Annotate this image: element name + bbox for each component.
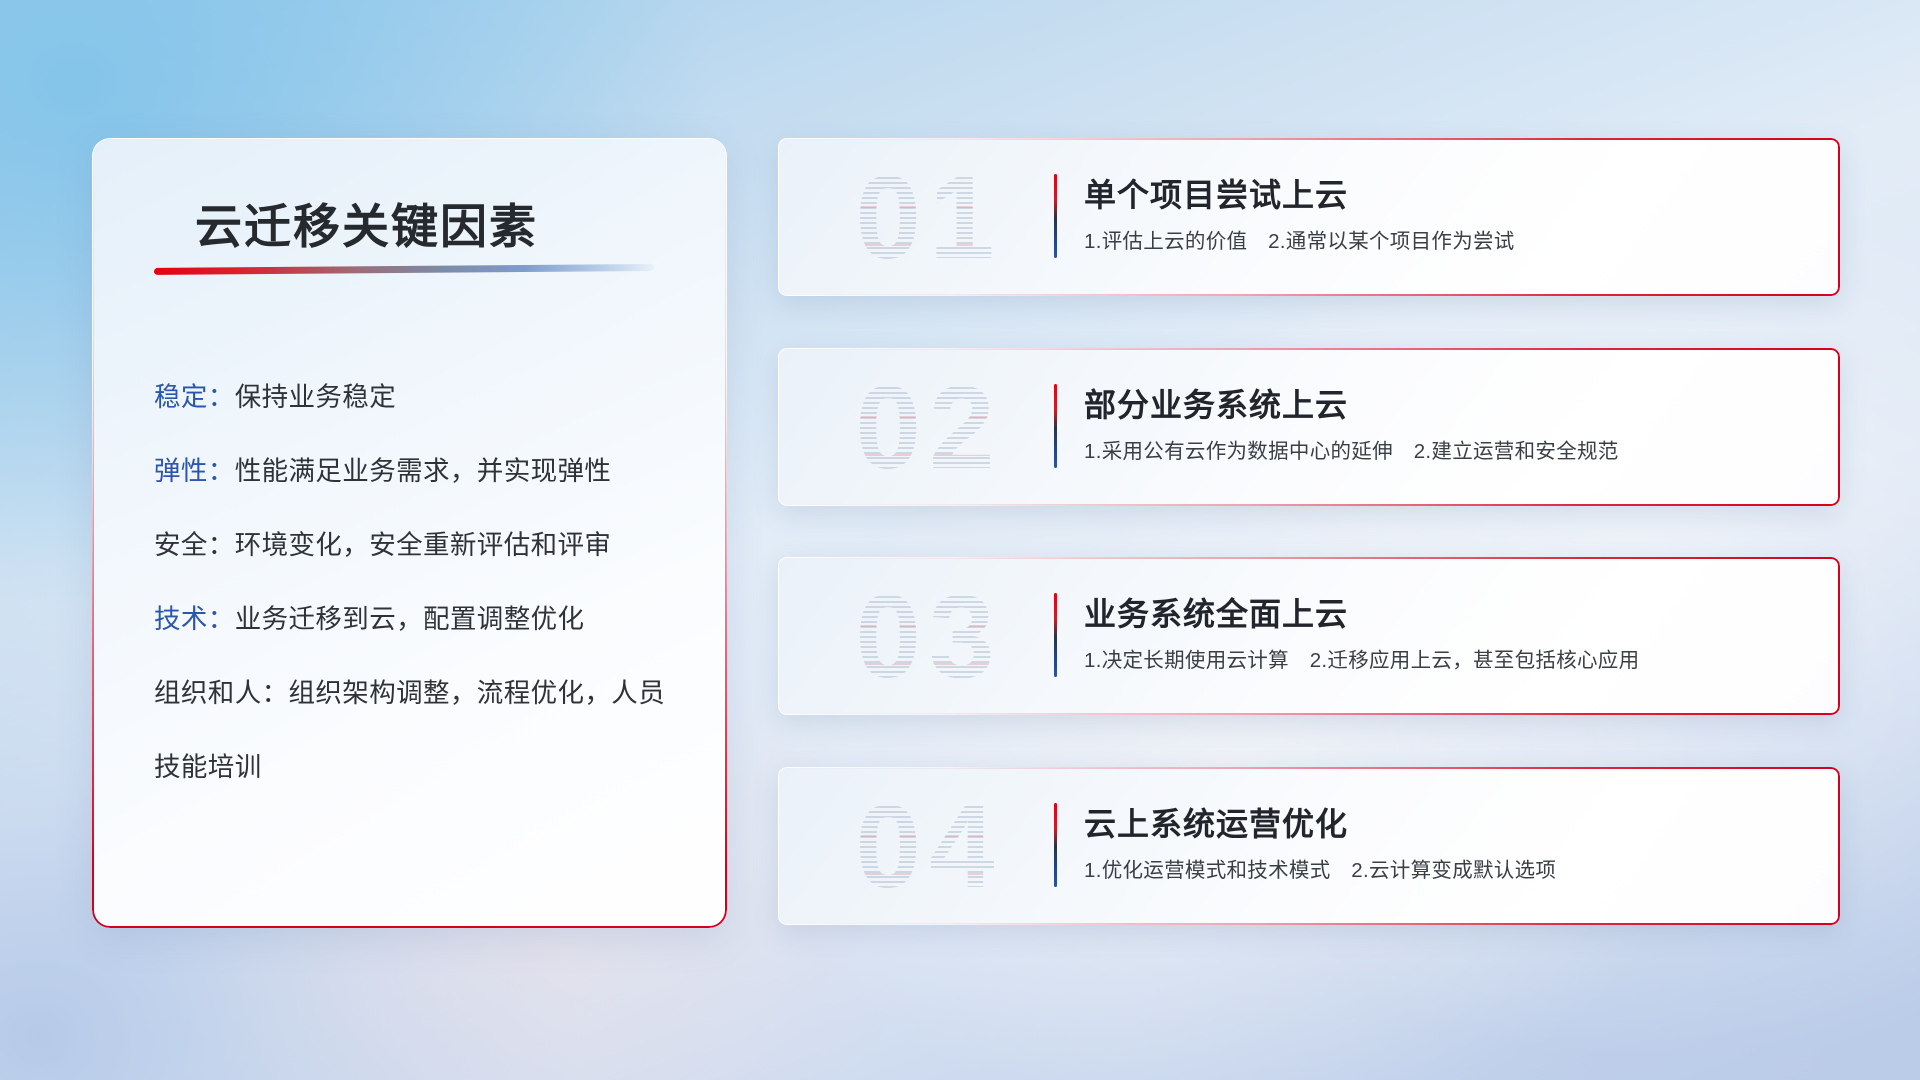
card-red-border <box>778 348 1840 506</box>
card-description: 1.评估上云的价值 2.通常以某个项目作为尝试 <box>1084 224 1515 254</box>
card-red-border <box>778 767 1840 925</box>
card-title: 单个项目尝试上云 <box>1084 170 1348 216</box>
card-divider-bar <box>1054 384 1057 468</box>
stage-card[interactable]: 02 02 部分业务系统上云 1.采用公有云作为数据中心的延伸 2.建立运营和安… <box>778 348 1840 506</box>
list-item-label: 弹性： <box>154 456 235 486</box>
card-white-border <box>778 348 1840 506</box>
page-title: 云迁移关键因素 <box>195 188 538 257</box>
list-item-label: 稳定： <box>154 382 235 412</box>
card-number-accent-glyph: 04 <box>814 781 1044 913</box>
card-divider-bar <box>1054 593 1057 677</box>
key-factors-list: 稳定：保持业务稳定 弹性：性能满足业务需求，并实现弹性 安全：环境变化，安全重新… <box>154 360 674 804</box>
list-item: 稳定：保持业务稳定 <box>154 360 674 434</box>
list-item-label: 组织和人： <box>154 678 289 708</box>
card-red-border <box>778 557 1840 715</box>
card-number-accent-glyph: 03 <box>814 571 1044 703</box>
card-red-border <box>778 138 1840 296</box>
card-number-glyph: 01 <box>814 152 1044 284</box>
list-item-text: 环境变化，安全重新评估和评审 <box>235 530 612 560</box>
card-number-accent-glyph: 01 <box>814 152 1044 284</box>
card-description: 1.采用公有云作为数据中心的延伸 2.建立运营和安全规范 <box>1084 434 1619 464</box>
list-item: 安全：环境变化，安全重新评估和评审 <box>154 508 674 582</box>
key-factors-panel: 云迁移关键因素 稳定：保持业务稳定 弹性：性能满足业务需求，并实现弹性 安全：环… <box>92 138 727 928</box>
list-item-text: 性能满足业务需求，并实现弹性 <box>235 456 612 486</box>
list-item-label: 技术： <box>154 604 235 634</box>
list-item-label: 安全： <box>154 530 235 560</box>
list-item-text: 业务迁移到云，配置调整优化 <box>235 604 585 634</box>
stage-card[interactable]: 04 04 云上系统运营优化 1.优化运营模式和技术模式 2.云计算变成默认选项 <box>778 767 1840 925</box>
card-number-accent-glyph: 02 <box>814 362 1044 494</box>
card-divider-bar <box>1054 174 1057 258</box>
card-number-glyph: 04 <box>814 781 1044 913</box>
title-underline-gradient <box>154 264 654 275</box>
list-item: 弹性：性能满足业务需求，并实现弹性 <box>154 434 674 508</box>
stage-card[interactable]: 01 01 单个项目尝试上云 1.评估上云的价值 2.通常以某个项目作为尝试 <box>778 138 1840 296</box>
card-title: 云上系统运营优化 <box>1084 799 1348 845</box>
card-white-border <box>778 557 1840 715</box>
list-item: 组织和人：组织架构调整，流程优化，人员技能培训 <box>154 656 674 804</box>
list-item: 技术：业务迁移到云，配置调整优化 <box>154 582 674 656</box>
card-divider-bar <box>1054 803 1057 887</box>
card-description: 1.优化运营模式和技术模式 2.云计算变成默认选项 <box>1084 853 1556 883</box>
card-title: 业务系统全面上云 <box>1084 589 1348 635</box>
slide-canvas: 云迁移关键因素 稳定：保持业务稳定 弹性：性能满足业务需求，并实现弹性 安全：环… <box>0 0 1920 1080</box>
stage-card[interactable]: 03 03 业务系统全面上云 1.决定长期使用云计算 2.迁移应用上云，甚至包括… <box>778 557 1840 715</box>
card-white-border <box>778 767 1840 925</box>
card-description: 1.决定长期使用云计算 2.迁移应用上云，甚至包括核心应用 <box>1084 643 1639 673</box>
card-number-glyph: 03 <box>814 571 1044 703</box>
card-title: 部分业务系统上云 <box>1084 380 1348 426</box>
card-number-glyph: 02 <box>814 362 1044 494</box>
list-item-text: 保持业务稳定 <box>235 382 396 412</box>
card-white-border <box>778 138 1840 296</box>
